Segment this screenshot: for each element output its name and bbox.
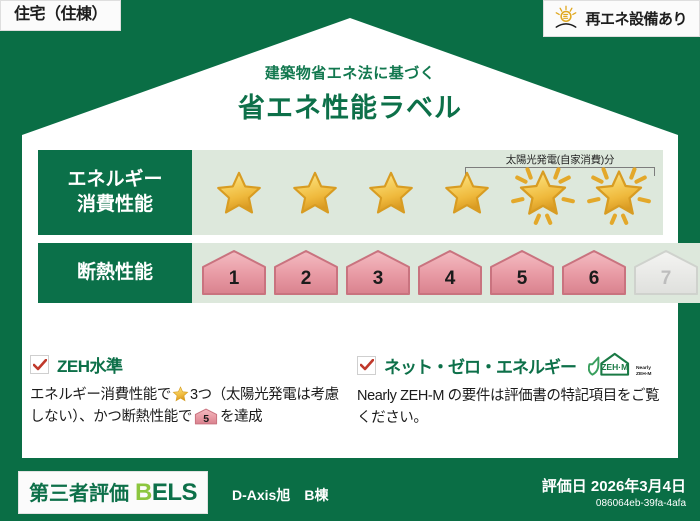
net-zero-checkbox[interactable] — [357, 356, 376, 375]
net-zero-criterion-title: ネット・ゼロ・エネルギー — [384, 353, 576, 378]
inline-house-value: 5 — [194, 411, 218, 427]
insulation-label: 断熱性能 — [77, 261, 153, 286]
star-filled — [430, 158, 504, 228]
zeh-m-house-icon: ZEH·M — [588, 352, 634, 378]
insulation-grade-value: 7 — [632, 268, 700, 290]
criteria-section: ZEH水準 エネルギー消費性能で3つ（太陽光発電は考慮しない）、かつ断熱性能で5… — [30, 352, 670, 430]
star-icon — [582, 158, 656, 228]
building-type-tag: 住宅（住棟） — [0, 0, 121, 31]
zeh-criterion-title: ZEH水準 — [57, 352, 123, 377]
bels-japanese-label: 第三者評価 — [29, 477, 129, 506]
nearly-zeh-m-sublabel: Nearly ZEH-M — [636, 363, 653, 378]
svg-text:Nearly: Nearly — [636, 365, 651, 371]
zeh-criterion: ZEH水準 エネルギー消費性能で3つ（太陽光発電は考慮しない）、かつ断熱性能で5… — [30, 352, 343, 430]
star-solar — [582, 158, 656, 228]
svg-text:ZEH·M: ZEH·M — [601, 362, 628, 372]
star-icon — [280, 160, 350, 226]
evaluation-info: 評価日 2026年3月4日 086064eb-39fa-4afa — [542, 475, 686, 509]
star-filled — [202, 158, 276, 228]
insulation-grade-active: 3 — [344, 249, 412, 297]
zeh-m-logo: ZEH·M Nearly ZEH-M — [588, 352, 653, 378]
net-zero-criterion-header: ネット・ゼロ・エネルギー ZEH·M Nearly ZEH-M — [357, 352, 670, 378]
svg-text:ZEH-M: ZEH-M — [636, 371, 651, 377]
energy-label-line1: エネルギー — [67, 168, 162, 193]
inline-star-icon — [172, 386, 189, 402]
zeh-checkbox[interactable] — [30, 355, 49, 374]
check-icon — [33, 359, 47, 371]
energy-performance-body: 太陽光発電(自家消費)分 — [192, 150, 663, 235]
zeh-criterion-text: エネルギー消費性能で3つ（太陽光発電は考慮しない）、かつ断熱性能で5を達成 — [30, 384, 343, 429]
insulation-grade-value: 2 — [272, 268, 340, 290]
check-icon — [360, 359, 374, 371]
star-solar — [506, 158, 580, 228]
insulation-grade-scale: 1234567 — [192, 249, 700, 297]
insulation-grade-value: 3 — [344, 268, 412, 290]
inline-insulation-house-icon: 5 — [194, 408, 218, 425]
label-subtitle: 建築物省エネ法に基づく — [0, 62, 700, 83]
star-icon — [204, 160, 274, 226]
net-zero-criterion: ネット・ゼロ・エネルギー ZEH·M Nearly ZEH-M Nearly Z… — [357, 352, 670, 430]
insulation-grade-active: 6 — [560, 249, 628, 297]
bels-letter-b: B — [135, 479, 152, 506]
insulation-grade-active: 5 — [488, 249, 556, 297]
bels-badge: 第三者評価 BELS — [18, 471, 208, 514]
zeh-criterion-header: ZEH水準 — [30, 352, 343, 377]
insulation-performance-label-block: 断熱性能 — [38, 243, 192, 303]
renewable-energy-label: 再エネ設備あり — [585, 8, 687, 29]
energy-performance-row: エネルギー 消費性能 太陽光発電(自家消費)分 — [38, 150, 663, 235]
net-zero-criterion-text: Nearly ZEH-M の要件は評価書の特記項目をご覧ください。 — [357, 385, 670, 430]
insulation-grade-active: 2 — [272, 249, 340, 297]
star-icon — [506, 158, 580, 228]
insulation-grade-value: 5 — [488, 268, 556, 290]
insulation-grade-value: 6 — [560, 268, 628, 290]
star-icon — [432, 160, 502, 226]
building-type-label: 住宅（住棟） — [14, 6, 107, 23]
zeh-text-part1: エネルギー消費性能で — [30, 387, 171, 403]
insulation-grade-value: 1 — [200, 268, 268, 290]
star-icon — [356, 160, 426, 226]
insulation-performance-body: 1234567 — [192, 243, 700, 303]
insulation-grade-active: 4 — [416, 249, 484, 297]
star-filled — [278, 158, 352, 228]
insulation-grade-active: 1 — [200, 249, 268, 297]
energy-label-line2: 消費性能 — [77, 193, 153, 218]
label-title-block: 建築物省エネ法に基づく 省エネ性能ラベル — [0, 62, 700, 125]
bels-letters-els: ELS — [152, 479, 197, 506]
zeh-text-part3: を達成 — [220, 409, 262, 425]
renewable-energy-tag: 再エネ設備あり — [543, 0, 700, 37]
evaluation-date: 評価日 2026年3月4日 — [542, 475, 686, 496]
insulation-performance-row: 断熱性能 1234567 — [38, 243, 663, 303]
energy-performance-label-block: エネルギー 消費性能 — [38, 150, 192, 235]
performance-rows: エネルギー 消費性能 太陽光発電(自家消費)分 断熱性能 1234567 — [38, 150, 663, 303]
insulation-grade-value: 4 — [416, 268, 484, 290]
label-footer: 第三者評価 BELS D-Axis旭 B棟 評価日 2026年3月4日 0860… — [0, 463, 700, 521]
insulation-grade-inactive: 7 — [632, 249, 700, 297]
label-main-title: 省エネ性能ラベル — [0, 86, 700, 125]
building-name: D-Axis旭 B棟 — [232, 485, 328, 505]
evaluation-id: 086064eb-39fa-4afa — [542, 498, 686, 509]
star-filled — [354, 158, 428, 228]
solar-sun-icon — [553, 5, 579, 31]
energy-performance-label: 住宅（住棟） 再エネ設備あり 建築物省エネ法に基づく 省エネ性能ラベル エネルギ… — [0, 0, 700, 521]
star-rating — [192, 158, 656, 228]
